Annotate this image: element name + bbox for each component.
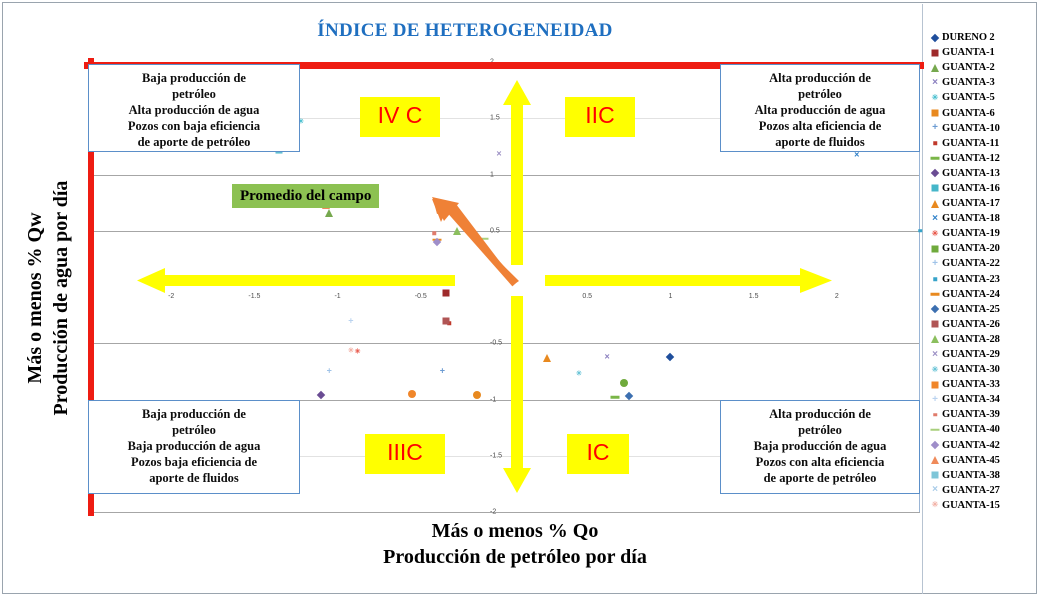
quadrant-tag-ic: IC [567,434,629,474]
legend-item-label: GUANTA-39 [942,409,1000,420]
legend-marker-icon [928,61,942,75]
legend-item-label: GUANTA-11 [942,138,999,149]
legend-marker-icon: × [928,212,942,226]
gridline-horizontal [88,343,920,344]
legend-marker-icon: ✳ [928,227,942,241]
legend-marker-icon: × [928,348,942,362]
legend-item-label: GUANTA-5 [942,92,995,103]
x-axis-tick-label: 2 [835,293,839,300]
legend-item-label: GUANTA-20 [942,243,1000,254]
legend-item[interactable]: GUANTA-2 [928,60,1036,75]
callout-bottom-right-line-2: petróleo [725,422,915,438]
x-axis-tick-label: 1.5 [749,293,759,300]
legend-marker-icon [928,378,942,392]
data-point [666,353,674,361]
legend-item[interactable]: ✳GUANTA-30 [928,362,1036,377]
data-point [620,379,628,387]
legend-item[interactable]: DURENO 2 [928,30,1036,45]
y-axis-tick-label: 1 [490,171,494,178]
legend-item-label: GUANTA-22 [942,258,1000,269]
data-point [480,237,489,240]
data-point [611,396,620,399]
callout-bottom-left-line-4: Pozos baja eficiencia de [93,454,295,470]
legend-item[interactable]: ✳GUANTA-5 [928,90,1036,105]
legend-marker-icon [928,242,942,256]
quadrant-tag-iic: IIC [565,97,635,137]
callout-bottom-left-line-5: aporte de fluidos [93,470,295,486]
legend-item[interactable]: +GUANTA-22 [928,256,1036,271]
x-axis-title-line1: Más o menos % Qo [120,518,910,544]
legend-marker-icon [928,166,942,180]
callout-bottom-right-line-1: Alta producción de [725,406,915,422]
callout-bottom-right-line-4: Pozos con alta eficiencia [725,454,915,470]
legend-item[interactable]: GUANTA-33 [928,377,1036,392]
legend-item-label: GUANTA-2 [942,62,995,73]
legend-item[interactable]: GUANTA-13 [928,166,1036,181]
data-point [432,231,436,235]
data-point [918,229,922,233]
legend-item[interactable]: ×GUANTA-27 [928,483,1036,498]
legend-item[interactable]: ×GUANTA-18 [928,211,1036,226]
legend-item-label: DURENO 2 [942,32,995,43]
y-axis-tick-label: 1.5 [490,115,500,122]
gridline-horizontal [88,231,920,232]
callout-top-right-line-2: petróleo [725,86,915,102]
legend-marker-icon [928,408,942,422]
quadrant-tag-ivc: IV C [360,97,440,137]
legend-marker-icon [928,197,942,211]
legend-item-label: GUANTA-23 [942,274,1000,285]
callout-top-right-line-3: Alta producción de agua [725,102,915,118]
average-of-field-label: Promedio del campo [232,184,379,208]
legend-item[interactable]: GUANTA-24 [928,287,1036,302]
data-point [453,227,461,235]
legend-item-label: GUANTA-15 [942,500,1000,511]
legend-item[interactable]: GUANTA-25 [928,302,1036,317]
callout-top-right-line-1: Alta producción de [725,70,915,86]
legend-marker-icon [928,106,942,120]
legend-item[interactable]: GUANTA-39 [928,407,1036,422]
legend-item-label: GUANTA-12 [942,153,1000,164]
x-axis-tick-label: -0.5 [415,293,427,300]
callout-top-left-line-2: petróleo [93,86,295,102]
data-point [543,354,551,362]
legend-item[interactable]: GUANTA-26 [928,317,1036,332]
data-point [442,289,449,296]
legend-marker-icon [928,31,942,45]
legend-item[interactable]: GUANTA-20 [928,241,1036,256]
data-point: × [496,150,501,159]
legend-item[interactable]: GUANTA-11 [928,136,1036,151]
legend-marker-icon [928,423,942,437]
legend-marker-icon [928,46,942,60]
legend-marker-icon: ✳ [928,91,942,105]
data-point [325,209,333,217]
legend-item-label: GUANTA-13 [942,168,1000,179]
callout-top-left-line-3: Alta producción de agua [93,102,295,118]
legend-item[interactable]: +GUANTA-10 [928,121,1036,136]
legend-item[interactable]: GUANTA-16 [928,181,1036,196]
legend-item-label: GUANTA-40 [942,424,1000,435]
legend-item[interactable]: GUANTA-17 [928,196,1036,211]
legend-item-label: GUANTA-19 [942,228,1000,239]
legend-item[interactable]: GUANTA-1 [928,45,1036,60]
data-point: × [605,352,610,361]
legend-marker-icon [928,317,942,331]
x-axis-tick-label: 0.5 [582,293,592,300]
legend-item-label: GUANTA-42 [942,440,1000,451]
x-axis-tick-label: -1.5 [248,293,260,300]
legend-divider [922,4,923,594]
legend-item-label: GUANTA-1 [942,47,995,58]
legend-marker-icon: ✳ [928,363,942,377]
legend-item[interactable]: GUANTA-40 [928,422,1036,437]
legend-marker-icon: + [928,257,942,271]
x-axis-tick-label: 1 [668,293,672,300]
legend-marker-icon [928,272,942,286]
legend-marker-icon: + [928,121,942,135]
legend-marker-icon [928,453,942,467]
data-point: + [348,316,353,325]
legend-item[interactable]: ×GUANTA-3 [928,75,1036,90]
chart-title: ÍNDICE DE HETEROGENEIDAD [0,20,930,42]
chart-page: ÍNDICE DE HETEROGENEIDAD -2-1.5-1-0.50.5… [0,0,1041,598]
legend-item-label: GUANTA-33 [942,379,1000,390]
data-point [473,391,481,399]
y-axis-tick-label: -1 [490,396,496,403]
legend-item-label: GUANTA-3 [942,77,995,88]
y-axis-tick-label: 0.5 [490,227,500,234]
callout-bottom-left-line-2: petróleo [93,422,295,438]
legend-marker-icon: + [928,393,942,407]
callout-top-right-line-5: aporte de fluidos [725,134,915,150]
legend-item[interactable]: GUANTA-23 [928,272,1036,287]
legend-item-label: GUANTA-10 [942,123,1000,134]
y-axis-title-line2: Producción de agua por día [48,78,74,518]
legend-item-label: GUANTA-27 [942,485,1000,496]
legend-item[interactable]: GUANTA-38 [928,468,1036,483]
quadrant-tag-iiic: IIIC [365,434,445,474]
y-axis-tick-label: -2 [490,509,496,516]
callout-bottom-right-line-3: Baja producción de agua [725,438,915,454]
legend-marker-icon [928,287,942,301]
legend-marker-icon [928,181,942,195]
chart-legend: DURENO 2GUANTA-1GUANTA-2×GUANTA-3✳GUANTA… [928,30,1036,513]
legend-item[interactable]: ✳GUANTA-15 [928,498,1036,513]
data-point [317,391,325,399]
legend-marker-icon [928,332,942,346]
callout-bottom-right-line-5: de aporte de petróleo [725,470,915,486]
callout-top-right: Alta producción depetróleoAlta producció… [720,64,920,152]
legend-marker-icon: ✳ [928,498,942,512]
legend-item-label: GUANTA-34 [942,394,1000,405]
callout-bottom-left-line-1: Baja producción de [93,406,295,422]
legend-marker-icon: × [928,76,942,90]
x-axis-tick-label: -2 [168,293,174,300]
callout-bottom-right: Alta producción depetróleoBaja producció… [720,400,920,494]
legend-item[interactable]: GUANTA-42 [928,438,1036,453]
legend-marker-icon [928,151,942,165]
y-axis-tick-label: -0.5 [490,340,502,347]
x-axis-title: Más o menos % Qo Producción de petróleo … [120,518,910,570]
legend-item-label: GUANTA-38 [942,470,1000,481]
legend-item[interactable]: GUANTA-12 [928,151,1036,166]
callout-top-right-line-4: Pozos alta eficiencia de [725,118,915,134]
callout-top-left-line-1: Baja producción de [93,70,295,86]
legend-marker-icon [928,136,942,150]
y-axis-title-line1: Más o menos % Qw [22,78,48,518]
data-point: ✳ [576,370,582,377]
legend-item-label: GUANTA-25 [942,304,1000,315]
legend-item-label: GUANTA-28 [942,334,1000,345]
gridline-horizontal [88,512,920,513]
data-point [408,390,416,398]
y-axis-tick-label: -1.5 [490,452,502,459]
legend-item-label: GUANTA-45 [942,455,1000,466]
data-point: ✳ [348,348,354,355]
x-axis-tick-label: -1 [334,293,340,300]
data-point: ✳ [355,349,361,356]
data-point: + [440,367,445,376]
legend-marker-icon [928,302,942,316]
y-axis-title: Más o menos % Qw Producción de agua por … [22,78,74,518]
legend-item-label: GUANTA-16 [942,183,1000,194]
legend-item-label: GUANTA-29 [942,349,1000,360]
legend-marker-icon: × [928,483,942,497]
gridline-horizontal [88,175,920,176]
callout-bottom-left-line-3: Baja producción de agua [93,438,295,454]
legend-marker-icon [928,468,942,482]
legend-marker-icon [928,438,942,452]
legend-item[interactable]: ✳GUANTA-19 [928,226,1036,241]
legend-item-label: GUANTA-18 [942,213,1000,224]
legend-item[interactable]: GUANTA-28 [928,332,1036,347]
legend-item-label: GUANTA-17 [942,198,1000,209]
legend-item-label: GUANTA-24 [942,289,1000,300]
x-axis-title-line2: Producción de petróleo por día [120,544,910,570]
legend-item[interactable]: GUANTA-6 [928,105,1036,120]
callout-top-left-line-5: de aporte de petróleo [93,134,295,150]
legend-item-label: GUANTA-30 [942,364,1000,375]
legend-item-label: GUANTA-26 [942,319,1000,330]
data-point: × [854,151,859,160]
legend-item-label: GUANTA-6 [942,108,995,119]
callout-bottom-left: Baja producción depetróleoBaja producció… [88,400,300,494]
data-point [442,317,449,324]
callout-top-left-line-4: Pozos con baja eficiencia [93,118,295,134]
legend-item[interactable]: ×GUANTA-29 [928,347,1036,362]
data-point: + [327,367,332,376]
legend-item[interactable]: GUANTA-45 [928,453,1036,468]
legend-item[interactable]: +GUANTA-34 [928,392,1036,407]
callout-top-left: Baja producción depetróleoAlta producció… [88,64,300,152]
